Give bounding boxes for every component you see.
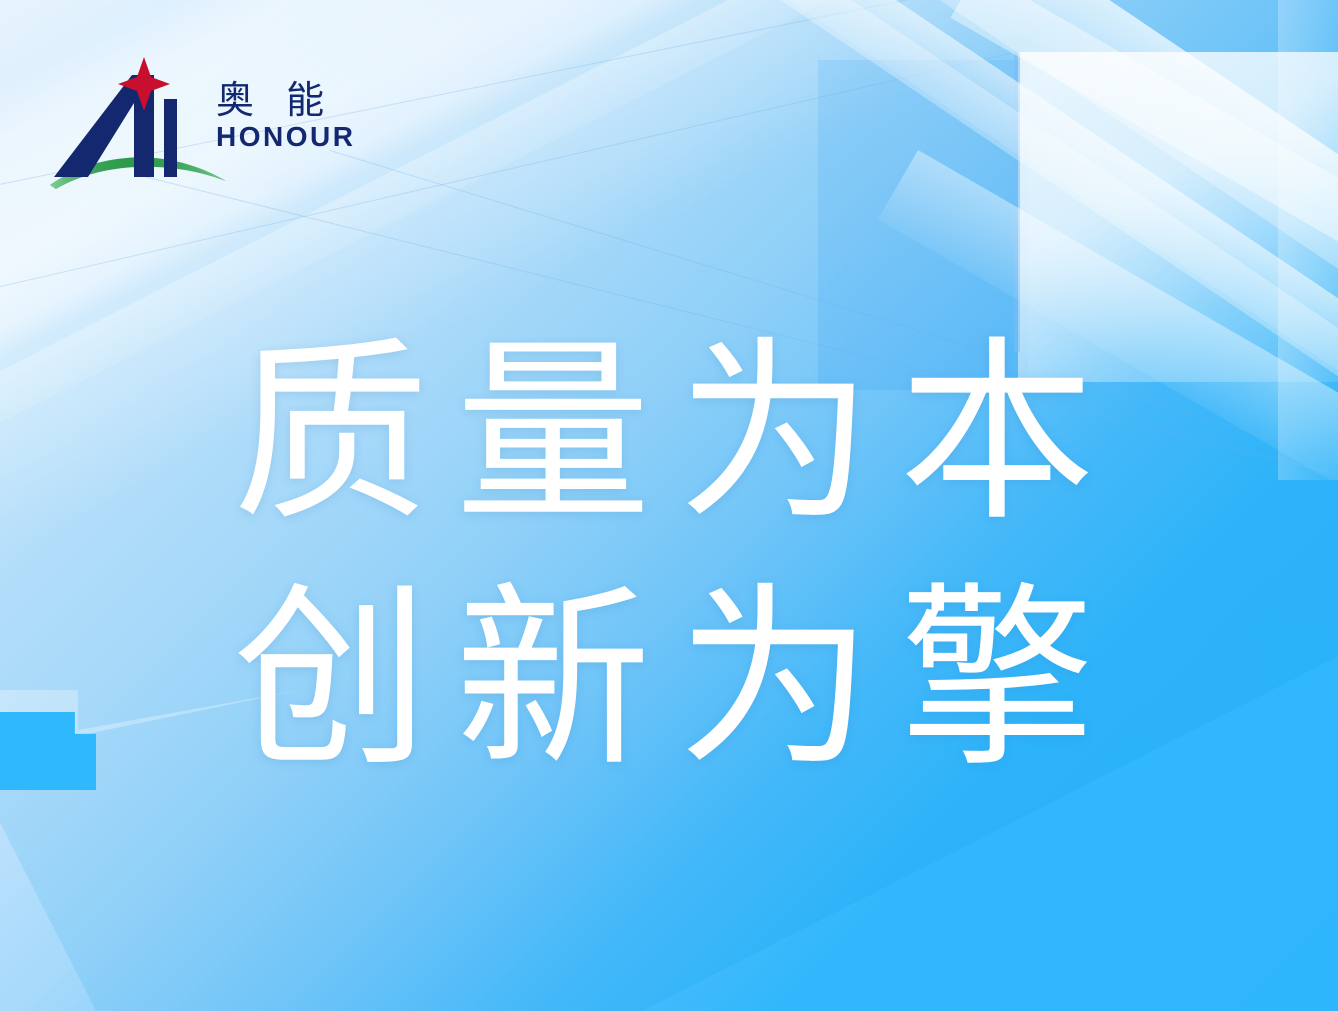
- headline-line-1: 质量为本: [233, 318, 1133, 550]
- geometry-right-strip: [1278, 0, 1338, 480]
- headline-line-2: 创新为擎: [233, 564, 1133, 796]
- logo-english-name: HONOUR: [216, 123, 356, 151]
- logo-mark: [48, 55, 228, 200]
- logo-wordmark: 奥 能 HONOUR: [216, 81, 356, 151]
- left-edge-step-notch: [0, 712, 96, 790]
- headline-block: 质量为本 创新为擎: [233, 318, 1133, 796]
- logo-chinese-name: 奥 能: [216, 81, 356, 119]
- poster-canvas: 奥 能 HONOUR 质量为本 创新为擎: [0, 0, 1338, 1011]
- company-logo: 奥 能 HONOUR: [48, 55, 318, 200]
